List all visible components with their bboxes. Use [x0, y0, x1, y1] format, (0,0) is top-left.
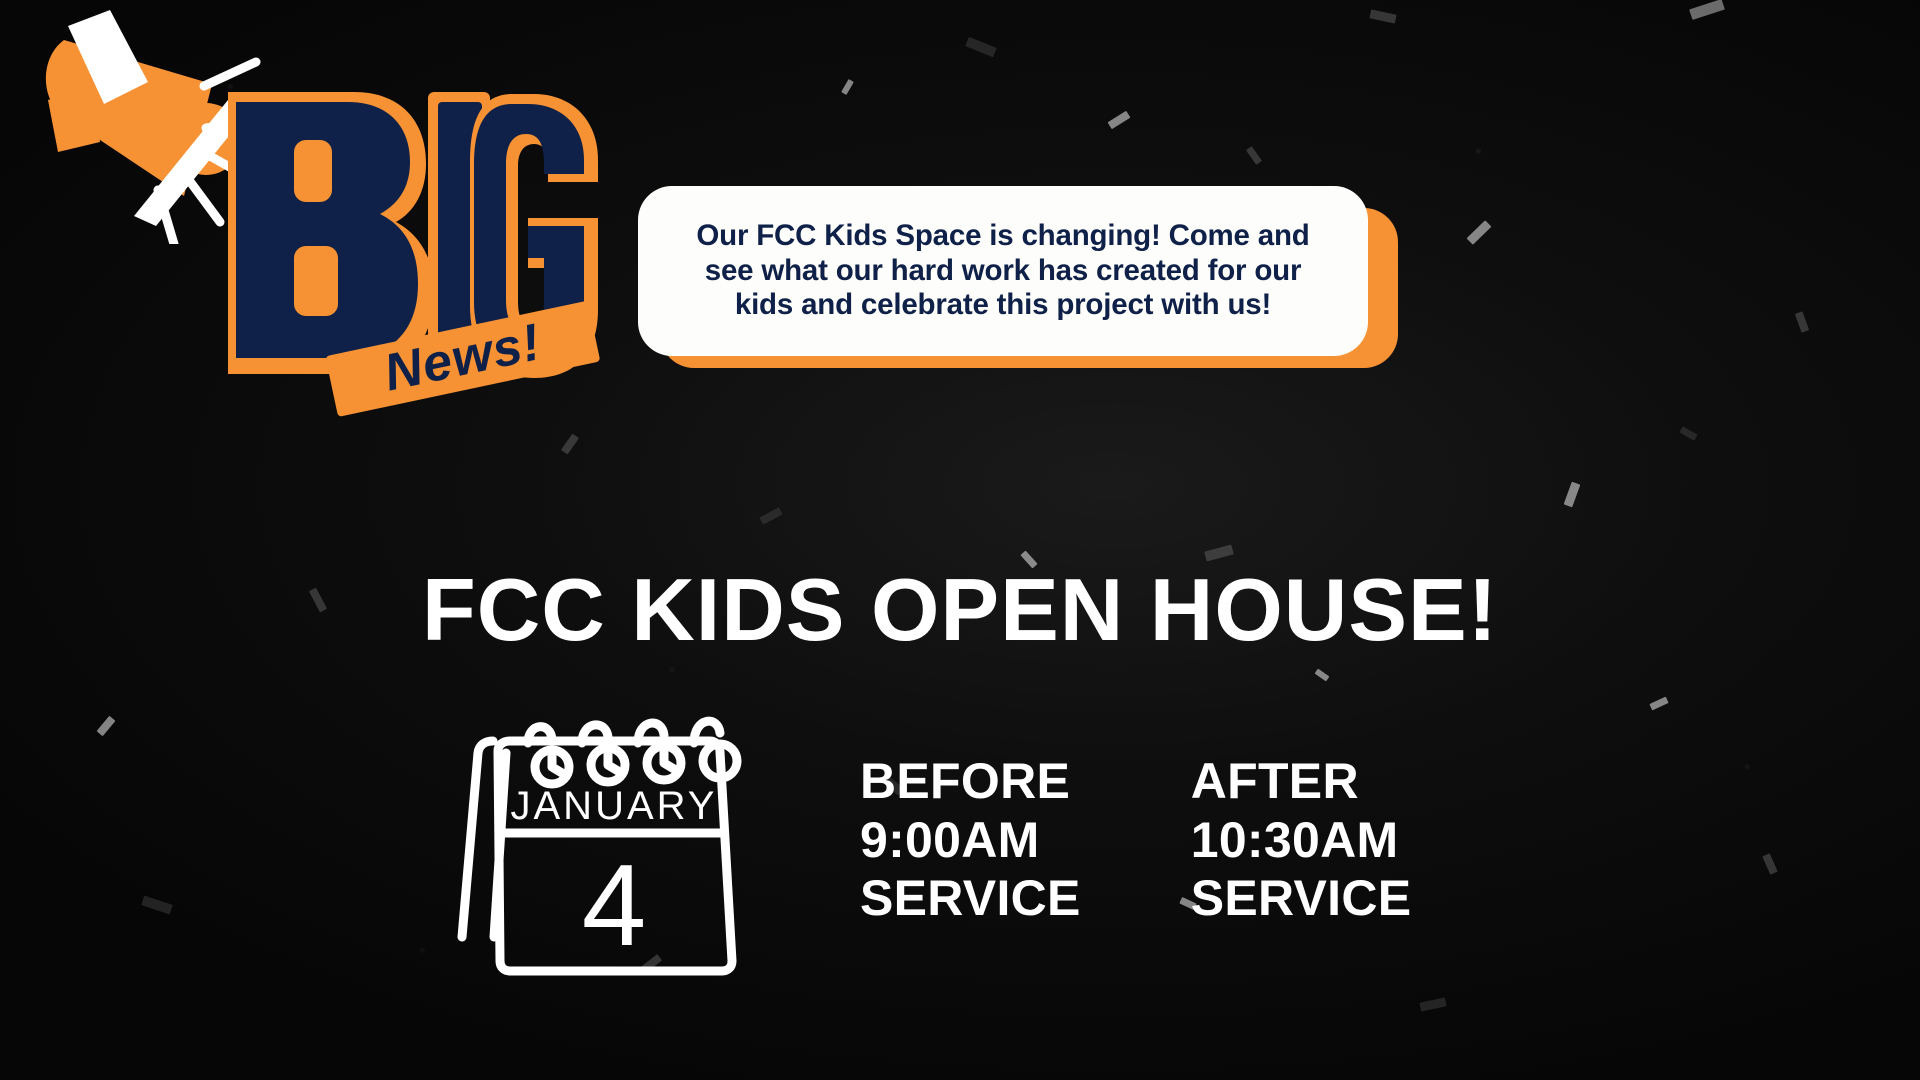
- announcement-bubble: Our FCC Kids Space is changing! Come and…: [638, 186, 1398, 368]
- service-label: SERVICE: [1191, 869, 1412, 928]
- bubble-message: Our FCC Kids Space is changing! Come and…: [696, 219, 1309, 323]
- poster-canvas: News! Our FCC Kids Space is changing! Co…: [0, 0, 1920, 1080]
- service-when: BEFORE: [860, 752, 1081, 811]
- bubble-line-2: see what our hard work has created for o…: [705, 254, 1302, 287]
- service-times: BEFORE 9:00AM SERVICE AFTER 10:30AM SERV…: [860, 752, 1411, 928]
- service-when: AFTER: [1191, 752, 1412, 811]
- bubble-body: Our FCC Kids Space is changing! Come and…: [638, 186, 1368, 356]
- calendar-month: JANUARY: [511, 784, 718, 828]
- service-clock: 9:00AM: [860, 811, 1081, 870]
- page-title: FCC KIDS OPEN HOUSE!: [0, 566, 1920, 654]
- service-clock: 10:30AM: [1191, 811, 1412, 870]
- service-time-after: AFTER 10:30AM SERVICE: [1191, 752, 1412, 928]
- calendar-icon: JANUARY 4: [432, 715, 777, 995]
- service-time-before: BEFORE 9:00AM SERVICE: [860, 752, 1081, 928]
- service-label: SERVICE: [860, 869, 1081, 928]
- bubble-line-3: kids and celebrate this project with us!: [735, 288, 1271, 321]
- big-news-logo: News!: [222, 88, 622, 428]
- bubble-line-1: Our FCC Kids Space is changing! Come and: [696, 219, 1309, 252]
- calendar-day: 4: [582, 840, 647, 970]
